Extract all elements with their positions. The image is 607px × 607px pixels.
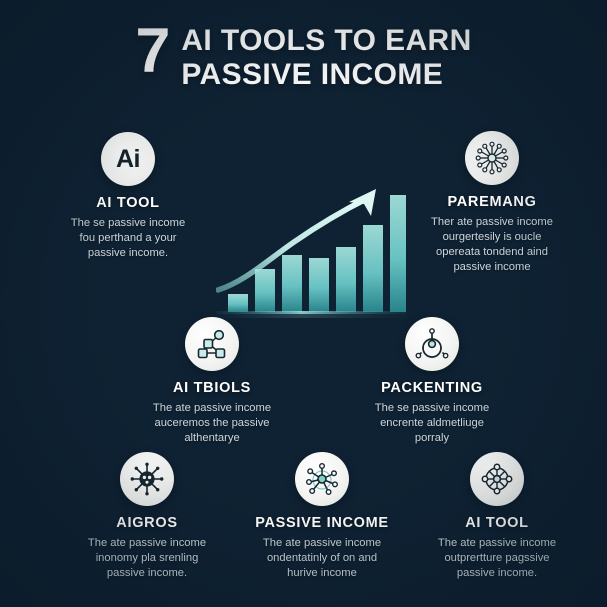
feature-heading: AI TOOL	[397, 515, 597, 531]
feature-heading: AIGROS	[47, 515, 247, 531]
feature-heading: PACKENTING	[332, 380, 532, 396]
radial-hub-network-icon	[465, 131, 519, 185]
feature-body: The ate passive income outprertture pags…	[397, 536, 597, 581]
feature-body: The se passive income encrente aldmetliu…	[332, 401, 532, 446]
feature-body: The se passive income fou perthand a you…	[28, 216, 228, 261]
bar-1	[228, 294, 248, 312]
spoke-network-icon	[295, 452, 349, 506]
feature-item-aigros[interactable]: AIGROS The ate passive income inonomy pl…	[47, 452, 247, 581]
feature-heading: PAREMANG	[392, 194, 592, 210]
chart-bars	[228, 195, 406, 312]
bar-2	[255, 269, 275, 312]
ai-logo-icon: Ai	[101, 132, 155, 186]
feature-item-passive-income[interactable]: PASSIVE INCOME The ate passive income on…	[222, 452, 422, 581]
headline-line-1: AI TOOLS TO EARN	[181, 24, 471, 58]
chart-svg	[216, 186, 406, 318]
virus-molecule-glyph	[130, 462, 164, 496]
feature-body: Ther ate passive income ourgertesily is …	[392, 215, 592, 275]
feature-item-paremang[interactable]: PAREMANG Ther ate passive income ourgert…	[392, 131, 592, 275]
node-cluster-icon	[185, 317, 239, 371]
ai-logo-icon-label: Ai	[116, 147, 140, 172]
circular-node-network-glyph	[479, 461, 515, 497]
bar-4	[309, 258, 329, 312]
bar-5	[336, 247, 356, 312]
bar-6	[363, 225, 383, 312]
feature-heading: AI TBIOLS	[112, 380, 312, 396]
circular-node-network-icon	[470, 452, 524, 506]
feature-item-ai-tbiols[interactable]: AI TBIOLS The ate passive income aucerem…	[112, 317, 312, 446]
feature-item-ai-tool-1[interactable]: Ai AI TOOL The se passive income fou per…	[28, 132, 228, 261]
triskelion-recycle-icon	[405, 317, 459, 371]
feature-body: The ate passive income inonomy pla srenl…	[47, 536, 247, 581]
headline-number: 7	[135, 22, 168, 82]
feature-item-ai-tool-2[interactable]: AI TOOL The ate passive income outprertt…	[397, 452, 597, 581]
feature-heading: AI TOOL	[28, 195, 228, 211]
growth-bar-chart	[216, 186, 406, 318]
infographic-poster: 7 AI TOOLS TO EARN PASSIVE INCOME	[0, 0, 607, 607]
feature-body: The ate passive income ondentatinly of o…	[222, 536, 422, 581]
bar-3	[282, 255, 302, 312]
node-cluster-glyph	[195, 327, 229, 361]
page-title: 7 AI TOOLS TO EARN PASSIVE INCOME	[0, 24, 607, 91]
virus-molecule-icon	[120, 452, 174, 506]
chart-baseline	[216, 311, 406, 314]
radial-hub-network-glyph	[474, 140, 510, 176]
feature-item-packenting[interactable]: PACKENTING The se passive income encrent…	[332, 317, 532, 446]
headline-line-2: PASSIVE INCOME	[181, 58, 471, 92]
feature-heading: PASSIVE INCOME	[222, 515, 422, 531]
feature-body: The ate passive income auceremos the pas…	[112, 401, 312, 446]
spoke-network-glyph	[304, 461, 340, 497]
triskelion-recycle-glyph	[414, 326, 450, 362]
